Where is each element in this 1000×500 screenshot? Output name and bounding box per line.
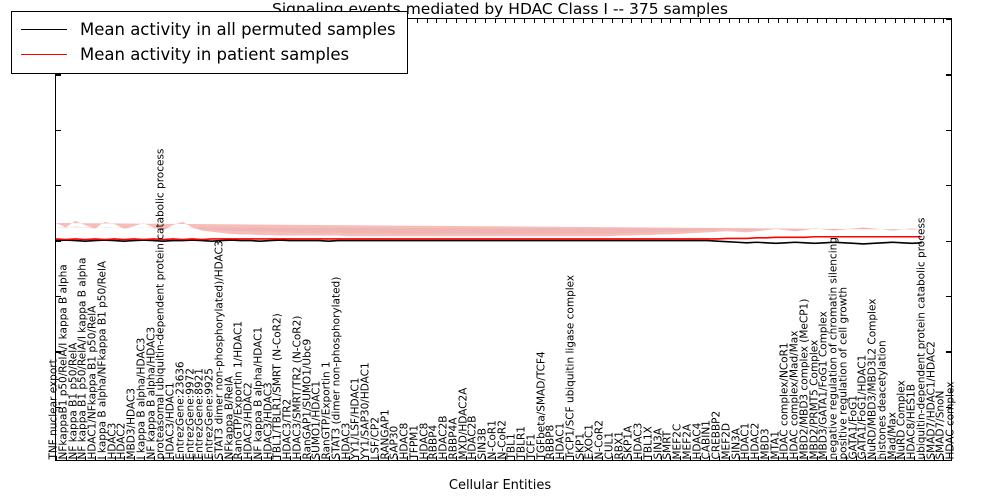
x-tick-mark: [895, 19, 896, 23]
y-tick-mark: [946, 130, 951, 131]
x-tick-mark: [778, 456, 779, 460]
x-tick-mark: [251, 456, 252, 460]
x-tick-mark: [904, 19, 905, 23]
x-tick-mark: [534, 19, 535, 23]
x-tick-mark: [797, 19, 798, 23]
x-tick-mark: [622, 19, 623, 23]
x-tick-mark: [875, 456, 876, 460]
x-tick-mark: [885, 456, 886, 460]
x-tick-mark: [592, 19, 593, 23]
x-tick-mark: [748, 19, 749, 23]
x-tick-mark: [495, 19, 496, 23]
x-axis-label: Cellular Entities: [0, 478, 1000, 493]
x-tick-mark: [768, 456, 769, 460]
series-line: [56, 237, 922, 240]
y-tick-mark: [946, 407, 951, 408]
x-tick-mark: [349, 456, 350, 460]
x-tick-mark: [553, 19, 554, 23]
x-tick-mark: [680, 19, 681, 23]
x-tick-mark: [212, 456, 213, 460]
x-tick-mark: [524, 19, 525, 23]
x-tick-mark: [573, 19, 574, 23]
x-tick-mark: [622, 456, 623, 460]
x-tick-mark: [456, 456, 457, 460]
x-tick-mark: [641, 19, 642, 23]
y-tick-mark: [56, 351, 61, 352]
y-tick-mark: [56, 241, 61, 242]
x-tick-mark: [456, 19, 457, 23]
x-tick-mark: [544, 456, 545, 460]
x-tick-mark: [563, 456, 564, 460]
x-tick-mark: [368, 456, 369, 460]
x-tick-mark: [544, 19, 545, 23]
x-tick-mark: [739, 456, 740, 460]
x-tick-mark: [397, 456, 398, 460]
x-tick-mark: [826, 19, 827, 23]
x-tick-mark: [124, 456, 125, 460]
x-tick-mark: [817, 19, 818, 23]
x-tick-mark: [524, 456, 525, 460]
series-line: [56, 240, 922, 244]
x-tick-mark: [690, 456, 691, 460]
x-tick-mark: [417, 19, 418, 23]
x-tick-mark: [202, 456, 203, 460]
x-tick-mark: [232, 456, 233, 460]
x-tick-mark: [407, 456, 408, 460]
x-tick-mark: [739, 19, 740, 23]
x-tick-mark: [436, 456, 437, 460]
y-tick-mark: [946, 185, 951, 186]
x-tick-mark: [924, 19, 925, 23]
x-tick-mark: [943, 456, 944, 460]
x-tick-mark: [797, 456, 798, 460]
x-tick-mark: [417, 456, 418, 460]
x-tick-mark: [602, 19, 603, 23]
x-tick-mark: [358, 456, 359, 460]
y-tick-mark: [56, 407, 61, 408]
x-tick-mark: [651, 456, 652, 460]
x-tick-mark: [505, 456, 506, 460]
x-tick-mark: [241, 456, 242, 460]
x-tick-mark: [758, 456, 759, 460]
x-tick-mark: [807, 19, 808, 23]
x-tick-mark: [758, 19, 759, 23]
x-tick-mark: [475, 456, 476, 460]
x-tick-mark: [787, 456, 788, 460]
x-tick-mark: [719, 456, 720, 460]
x-tick-mark: [280, 456, 281, 460]
y-tick-mark: [946, 241, 951, 242]
legend-entry-patient: Mean activity in patient samples: [21, 42, 396, 67]
plot-area: [55, 18, 952, 461]
x-tick-mark: [934, 456, 935, 460]
x-tick-mark: [261, 456, 262, 460]
x-tick-mark: [592, 456, 593, 460]
x-tick-mark: [826, 456, 827, 460]
x-tick-mark: [446, 19, 447, 23]
legend-label-permuted: Mean activity in all permuted samples: [80, 20, 396, 39]
x-tick-mark: [66, 456, 67, 460]
x-tick-mark: [222, 456, 223, 460]
y-tick-mark: [56, 74, 61, 75]
x-tick-mark: [914, 456, 915, 460]
x-tick-mark: [651, 19, 652, 23]
x-tick-mark: [485, 19, 486, 23]
x-tick-mark: [856, 456, 857, 460]
x-tick-mark: [290, 456, 291, 460]
x-tick-mark: [748, 456, 749, 460]
x-tick-mark: [475, 19, 476, 23]
x-tick-mark: [466, 456, 467, 460]
x-tick-mark: [193, 456, 194, 460]
x-tick-mark: [505, 19, 506, 23]
legend: Mean activity in all permuted samples Me…: [11, 11, 408, 74]
x-tick-mark: [641, 456, 642, 460]
x-tick-mark: [836, 19, 837, 23]
x-tick-mark: [115, 456, 116, 460]
y-tick-mark: [946, 351, 951, 352]
x-tick-mark: [612, 456, 613, 460]
x-tick-mark: [924, 456, 925, 460]
x-tick-mark: [563, 19, 564, 23]
x-tick-mark: [865, 456, 866, 460]
x-tick-mark: [310, 456, 311, 460]
x-tick-mark: [709, 19, 710, 23]
y-tick-mark: [946, 74, 951, 75]
x-tick-mark: [904, 456, 905, 460]
legend-swatch-patient: [21, 54, 67, 55]
x-tick-mark: [183, 456, 184, 460]
x-tick-mark: [934, 19, 935, 23]
x-tick-mark: [573, 456, 574, 460]
x-tick-mark: [661, 19, 662, 23]
legend-label-patient: Mean activity in patient samples: [80, 45, 349, 64]
x-tick-mark: [602, 456, 603, 460]
x-tick-mark: [631, 456, 632, 460]
x-tick-mark: [427, 456, 428, 460]
x-tick-mark: [700, 456, 701, 460]
x-tick-mark: [466, 19, 467, 23]
x-tick-mark: [778, 19, 779, 23]
y-tick-mark: [56, 296, 61, 297]
x-tick-mark: [154, 456, 155, 460]
x-tick-mark: [76, 456, 77, 460]
x-tick-mark: [514, 456, 515, 460]
x-tick-mark: [631, 19, 632, 23]
x-tick-mark: [807, 456, 808, 460]
x-tick-mark: [173, 456, 174, 460]
x-tick-mark: [836, 456, 837, 460]
x-tick-mark: [846, 456, 847, 460]
x-tick-mark: [787, 19, 788, 23]
x-tick-mark: [729, 19, 730, 23]
x-tick-mark: [895, 456, 896, 460]
chart-root: Signaling events mediated by HDAC Class …: [0, 0, 1000, 500]
x-tick-mark: [583, 456, 584, 460]
x-tick-mark: [105, 456, 106, 460]
x-tick-mark: [670, 456, 671, 460]
x-tick-mark: [875, 19, 876, 23]
x-tick-mark: [729, 456, 730, 460]
x-tick-mark: [661, 456, 662, 460]
x-tick-mark: [943, 19, 944, 23]
x-tick-mark: [846, 19, 847, 23]
y-tick-mark: [56, 130, 61, 131]
x-tick-mark: [163, 456, 164, 460]
x-tick-mark: [700, 19, 701, 23]
x-tick-mark: [885, 19, 886, 23]
x-tick-mark: [680, 456, 681, 460]
y-tick-mark: [946, 19, 951, 20]
x-tick-mark: [583, 19, 584, 23]
x-tick-mark: [300, 456, 301, 460]
x-tick-mark: [768, 19, 769, 23]
x-tick-mark: [134, 456, 135, 460]
legend-swatch-permuted: [21, 29, 67, 30]
x-tick-mark: [856, 19, 857, 23]
x-tick-mark: [56, 456, 57, 460]
x-tick-mark: [339, 456, 340, 460]
x-tick-mark: [388, 456, 389, 460]
x-tick-mark: [612, 19, 613, 23]
x-tick-mark: [95, 456, 96, 460]
confidence-band: [56, 221, 922, 236]
x-tick-mark: [719, 19, 720, 23]
x-tick-mark: [553, 456, 554, 460]
x-tick-mark: [271, 456, 272, 460]
x-tick-mark: [690, 19, 691, 23]
x-tick-mark: [436, 19, 437, 23]
series-layer: [56, 19, 951, 460]
x-tick-mark: [914, 19, 915, 23]
x-tick-mark: [495, 456, 496, 460]
x-tick-mark: [485, 456, 486, 460]
x-tick-mark: [817, 456, 818, 460]
x-tick-mark: [865, 19, 866, 23]
x-tick-mark: [144, 456, 145, 460]
x-tick-mark: [670, 19, 671, 23]
x-tick-mark: [709, 456, 710, 460]
x-tick-mark: [319, 456, 320, 460]
x-tick-mark: [446, 456, 447, 460]
y-tick-mark: [56, 185, 61, 186]
x-tick-mark: [378, 456, 379, 460]
x-tick-mark: [329, 456, 330, 460]
legend-entry-permuted: Mean activity in all permuted samples: [21, 17, 396, 42]
x-tick-mark: [427, 19, 428, 23]
x-tick-mark: [514, 19, 515, 23]
y-tick-mark: [946, 296, 951, 297]
x-tick-mark: [534, 456, 535, 460]
x-tick-mark: [85, 456, 86, 460]
